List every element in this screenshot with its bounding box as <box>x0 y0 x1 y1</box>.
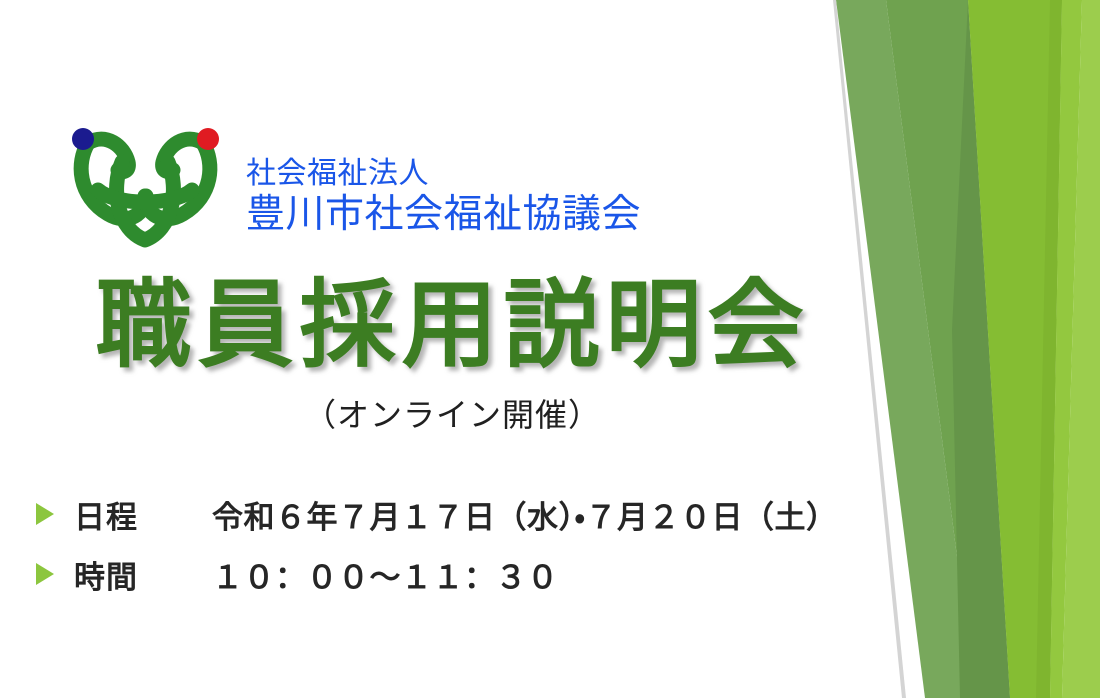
detail-label-time: 時間 <box>60 552 212 597</box>
ribbon-band-6 <box>1050 0 1082 698</box>
detail-row-schedule: 日程 令和６年７月１７日（水）・７月２０日（土） <box>34 488 874 540</box>
slide-canvas: 社会福祉法人 豊川市社会福祉協議会 職員採用説明会 （オンライン開催） 日程 令… <box>0 0 1100 698</box>
triangle-right-icon <box>34 561 60 587</box>
ribbon-band-5 <box>1036 0 1062 698</box>
page-title: 職員採用説明会 <box>0 276 905 377</box>
event-details: 日程 令和６年７月１７日（水）・７月２０日（土） 時間 １０：００～１１：３０ <box>34 488 874 608</box>
ribbon-band-7 <box>1062 0 1100 698</box>
shakyo-trefoil-knot-logo <box>58 118 233 258</box>
ribbon-band-4 <box>968 0 1062 698</box>
detail-value-schedule: 令和６年７月１７日（水）・７月２０日（土） <box>212 492 838 537</box>
ribbon-band-3 <box>952 0 1010 698</box>
page-subtitle: （オンライン開催） <box>0 390 905 436</box>
organization-logo <box>58 118 233 258</box>
detail-value-time: １０：００～１１：３０ <box>212 552 559 597</box>
organization-name: 豊川市社会福祉協議会 <box>246 194 641 236</box>
organization-kind: 社会福祉法人 <box>246 158 641 190</box>
logo-dot-red <box>197 128 219 150</box>
detail-row-time: 時間 １０：００～１１：３０ <box>34 548 874 600</box>
triangle-right-icon <box>34 501 60 527</box>
detail-label-schedule: 日程 <box>60 492 212 537</box>
logo-dot-navy <box>72 128 94 150</box>
organization-name-block: 社会福祉法人 豊川市社会福祉協議会 <box>246 158 641 237</box>
